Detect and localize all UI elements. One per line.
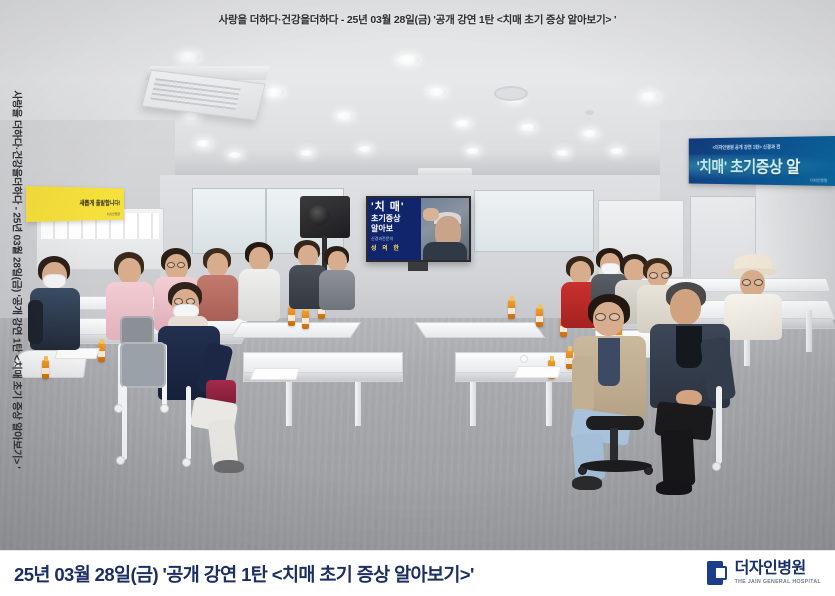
window-back-right [474,190,594,252]
video-camera [300,196,350,238]
attendee-left-1 [28,256,84,386]
chair-frame [122,386,127,460]
office-chair-base [580,460,652,472]
blue-banner-superline: <더자인병원 공개 강연 1탄> 신경과 전 [713,144,781,151]
chair-backrest [120,342,166,388]
eyeglasses [754,279,763,286]
ceiling-downlight [640,92,659,101]
shoe [656,480,692,495]
handout-paper [514,366,562,378]
hospital-logo-icon [707,561,729,585]
arm [28,300,43,344]
attendee-left-7 [318,246,356,310]
chair-caster [182,458,191,467]
face [670,289,701,325]
drink-bottle [536,308,543,327]
face [249,247,270,271]
torso [239,269,280,321]
face [118,258,141,284]
eyeglasses [167,262,175,268]
ceiling-downlight [610,148,624,154]
event-photo: 새롭게 출발합니다! 더자인병원 <더자인병원 공개 강연 1탄> 신경과 전 … [0,0,835,550]
table-leg [470,382,476,426]
monitor-stand [408,262,428,271]
hospital-logo: 더자인병원 THE JAIN GENERAL HOSPITAL [707,561,821,585]
face-mask [43,274,66,289]
ceiling-downlight [582,130,598,137]
face [328,251,347,272]
left-vertical-caption: 사랑을 더하다·건강을더하다 - 25년 03월 28일(금) '공개 강연 1… [11,30,26,530]
ceiling-downlight [265,88,284,97]
arm [572,356,594,412]
hospital-logo-text: 더자인병원 THE JAIN GENERAL HOSPITAL [735,561,821,585]
chair-frame [186,386,191,460]
chair-frame [716,386,722,464]
presentation-monitor: '치 매' 초기증상 알아보 신경과전문의 성 의 한 [366,196,471,262]
chair-caster [578,466,587,475]
slide-line-4: 신경과전문의 [371,236,418,242]
face [570,261,591,284]
eyeglasses [177,262,185,268]
blue-banner-headline: '치매' 초기증상 알 [697,153,800,177]
top-caption: 사랑을 더하다·건강을더하다 - 25년 03월 28일(금) '공개 강연 1… [0,12,835,27]
inner-shirt [676,326,702,368]
eyeglasses [649,272,658,279]
bottom-caption-title: 25년 03월 28일(금) '공개 강연 1탄 <치매 초기 증상 알아보기>… [14,561,474,587]
ceiling-downlight [520,124,536,131]
table-leg [355,382,361,426]
hospital-name-kr: 더자인병원 [735,561,821,577]
ceiling-downlight [358,146,372,152]
chair-caster [712,462,721,471]
table-leg [546,382,552,426]
ceiling-downlight [556,150,570,156]
office-chair-post [610,428,618,464]
chair-caster [116,456,125,465]
chair-caster [160,404,169,413]
yellow-banner: 새롭게 출발합니다! 더자인병원 [26,186,124,222]
blue-banner: <더자인병원 공개 강연 1탄> 신경과 전 '치매' 초기증상 알 더자인병원 [689,136,835,186]
slide-line-5: 성 의 한 [371,243,418,252]
ceiling-downlight [178,52,200,62]
slide-person-hand [423,208,439,221]
shoe [572,476,602,490]
slide-line-3: 알아보 [371,225,418,233]
ceiling-downlight [336,112,353,120]
hospital-name-en: THE JAIN GENERAL HOSPITAL [735,580,821,585]
face [298,245,318,267]
drink-bottle [302,310,309,329]
table-center-diag-left [231,322,362,338]
table-leg [286,382,292,426]
paper-cup [520,355,528,363]
bottom-caption-bar: 25년 03월 28일(금) '공개 강연 1탄 <치매 초기 증상 알아보기>… [0,550,835,596]
blue-banner-logo: 더자인병원 [810,178,827,184]
attendee-left-5 [238,242,282,324]
table-center-diag-right [415,322,546,338]
attendee-right-front-man [648,282,752,500]
ceiling-downlight [228,152,242,158]
yellow-banner-text: 새롭게 출발합니다! [79,200,120,207]
eyeglasses [595,313,606,321]
slide-person-body [423,242,467,260]
shoe [214,460,244,473]
ceiling-sprinkler [585,110,594,115]
leg [572,433,605,481]
handout-paper [250,368,300,380]
slide-text-block: '치 매' 초기증상 알아보 신경과전문의 성 의 한 [368,198,421,260]
eyeglasses [609,313,620,321]
logo-shape-inner [714,566,727,580]
ceiling-downlight [428,88,446,96]
slide-line-2: 초기증상 [371,215,418,223]
ceiling-downlight [466,148,480,154]
ceiling-downlight [300,150,314,156]
drink-bottle [508,300,515,319]
slide-line-1: '치 매' [371,202,418,213]
ceiling-downlight [397,55,419,65]
ceiling-vent [494,86,528,101]
eyeglasses [661,272,670,279]
inner-shirt [598,338,620,386]
ceiling-downlight [455,120,471,127]
table-leg [806,310,812,352]
face [207,253,228,277]
ceiling-downlight [196,140,211,147]
torso [319,270,355,310]
slide-photo [421,198,469,260]
leg [661,429,696,487]
yellow-banner-logo: 더자인병원 [107,212,120,217]
